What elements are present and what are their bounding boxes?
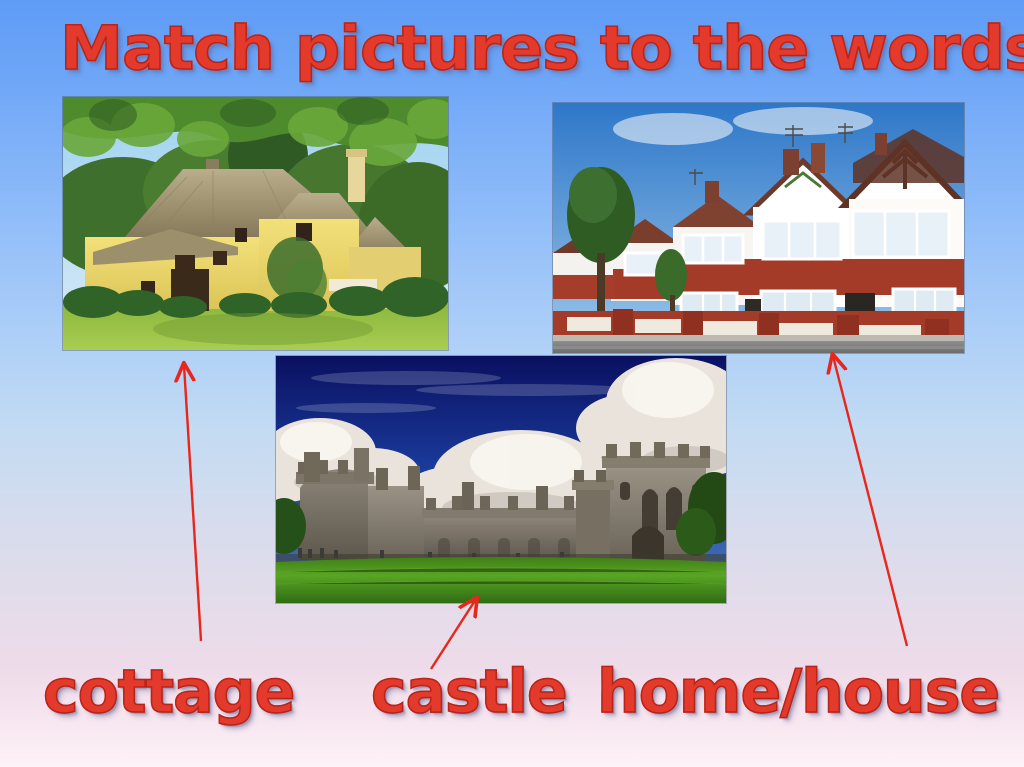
picture-castle[interactable] [276, 356, 726, 603]
word-label-castle[interactable]: castle [371, 657, 567, 727]
house-arrow [833, 356, 907, 646]
word-label-house[interactable]: home/house [597, 657, 999, 727]
page-title: Match pictures to the words [60, 13, 1024, 84]
cottage-arrow [184, 365, 201, 641]
slide-canvas: Match pictures to the words [0, 0, 1024, 767]
picture-houses[interactable] [553, 103, 964, 353]
cottage-illustration [63, 97, 448, 350]
picture-cottage[interactable] [63, 97, 448, 350]
word-label-cottage[interactable]: cottage [43, 657, 294, 727]
terraced-houses-illustration [553, 103, 964, 353]
castle-illustration [276, 356, 726, 603]
